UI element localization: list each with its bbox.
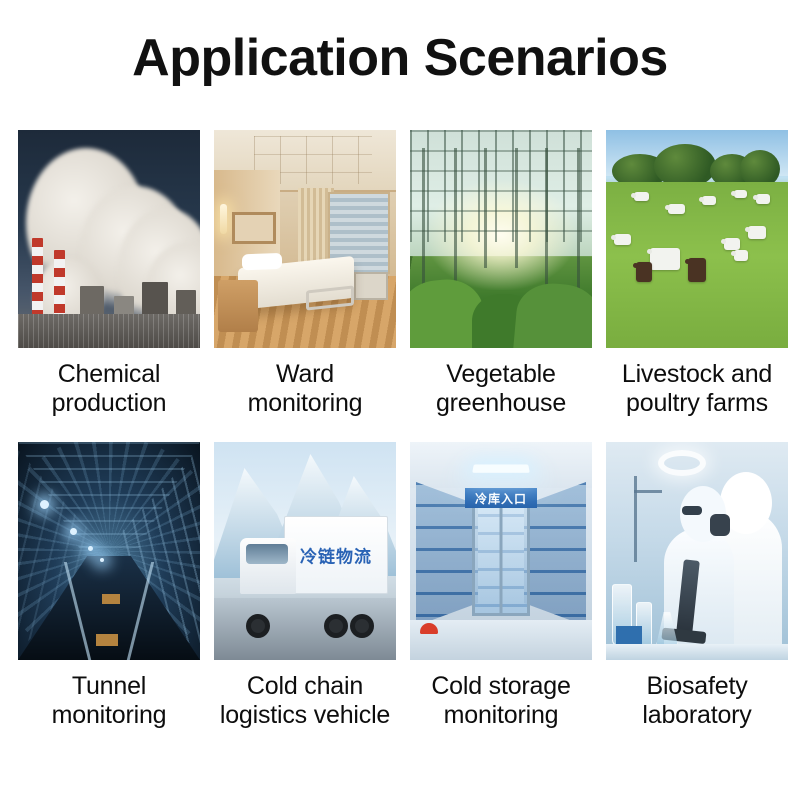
scenario-card-biosafety-laboratory[interactable]: Biosafety laboratory <box>606 442 788 730</box>
scenario-row-1: Chemical production <box>18 130 782 418</box>
caption-line-1: Tunnel <box>72 672 146 700</box>
truck-body-text: 冷链物流 <box>300 543 372 568</box>
rail-tunnel-interior-photo <box>18 442 200 660</box>
caption-line-2: greenhouse <box>410 389 592 418</box>
caption-line-2: monitoring <box>214 389 396 418</box>
caption-line-2: production <box>18 389 200 418</box>
application-scenarios-page: Application Scenarios Chemical <box>0 0 800 800</box>
caption-line-1: Livestock and <box>622 360 772 388</box>
page-title: Application Scenarios <box>0 32 800 84</box>
scenario-card-ward-monitoring[interactable]: Ward monitoring <box>214 130 396 418</box>
scenario-caption: Livestock and poultry farms <box>606 360 788 418</box>
cattle-grazing-pasture-photo <box>606 130 788 348</box>
hospital-ward-room-photo <box>214 130 396 348</box>
caption-line-1: Cold storage <box>431 672 570 700</box>
scenario-caption: Cold chain logistics vehicle <box>214 672 396 730</box>
greenhouse-crop-rows-photo <box>410 130 592 348</box>
caption-line-1: Ward <box>276 360 334 388</box>
caption-line-2: monitoring <box>18 701 200 730</box>
scenario-card-livestock-and-poultry-farms[interactable]: Livestock and poultry farms <box>606 130 788 418</box>
caption-line-2: poultry farms <box>606 389 788 418</box>
caption-line-2: laboratory <box>606 701 788 730</box>
scenario-grid: Chemical production <box>18 130 782 730</box>
scenario-card-cold-storage-monitoring[interactable]: 冷库入口 Cold storage monitoring <box>410 442 592 730</box>
scenario-caption: Tunnel monitoring <box>18 672 200 730</box>
scenario-card-cold-chain-logistics-vehicle[interactable]: 冷链物流 Cold chain logistics vehicle <box>214 442 396 730</box>
scenario-card-chemical-production[interactable]: Chemical production <box>18 130 200 418</box>
scenario-caption: Vegetable greenhouse <box>410 360 592 418</box>
scenario-caption: Biosafety laboratory <box>606 672 788 730</box>
scenario-row-2: Tunnel monitoring 冷链物流 <box>18 442 782 730</box>
scenario-card-tunnel-monitoring[interactable]: Tunnel monitoring <box>18 442 200 730</box>
scenario-card-vegetable-greenhouse[interactable]: Vegetable greenhouse <box>410 130 592 418</box>
caption-line-2: monitoring <box>410 701 592 730</box>
caption-line-2: logistics vehicle <box>214 701 396 730</box>
chemical-plant-smokestacks-photo <box>18 130 200 348</box>
scenario-caption: Ward monitoring <box>214 360 396 418</box>
scenario-caption: Chemical production <box>18 360 200 418</box>
scenario-caption: Cold storage monitoring <box>410 672 592 730</box>
caption-line-1: Biosafety <box>646 672 747 700</box>
caption-line-1: Vegetable <box>446 360 555 388</box>
refrigerated-truck-snow-mountains-photo: 冷链物流 <box>214 442 396 660</box>
cold-storage-entrance-sign: 冷库入口 <box>465 488 537 508</box>
cold-storage-warehouse-aisle-photo: 冷库入口 <box>410 442 592 660</box>
scientists-hazmat-suits-microscope-photo <box>606 442 788 660</box>
caption-line-1: Chemical <box>58 360 161 388</box>
caption-line-1: Cold chain <box>247 672 363 700</box>
